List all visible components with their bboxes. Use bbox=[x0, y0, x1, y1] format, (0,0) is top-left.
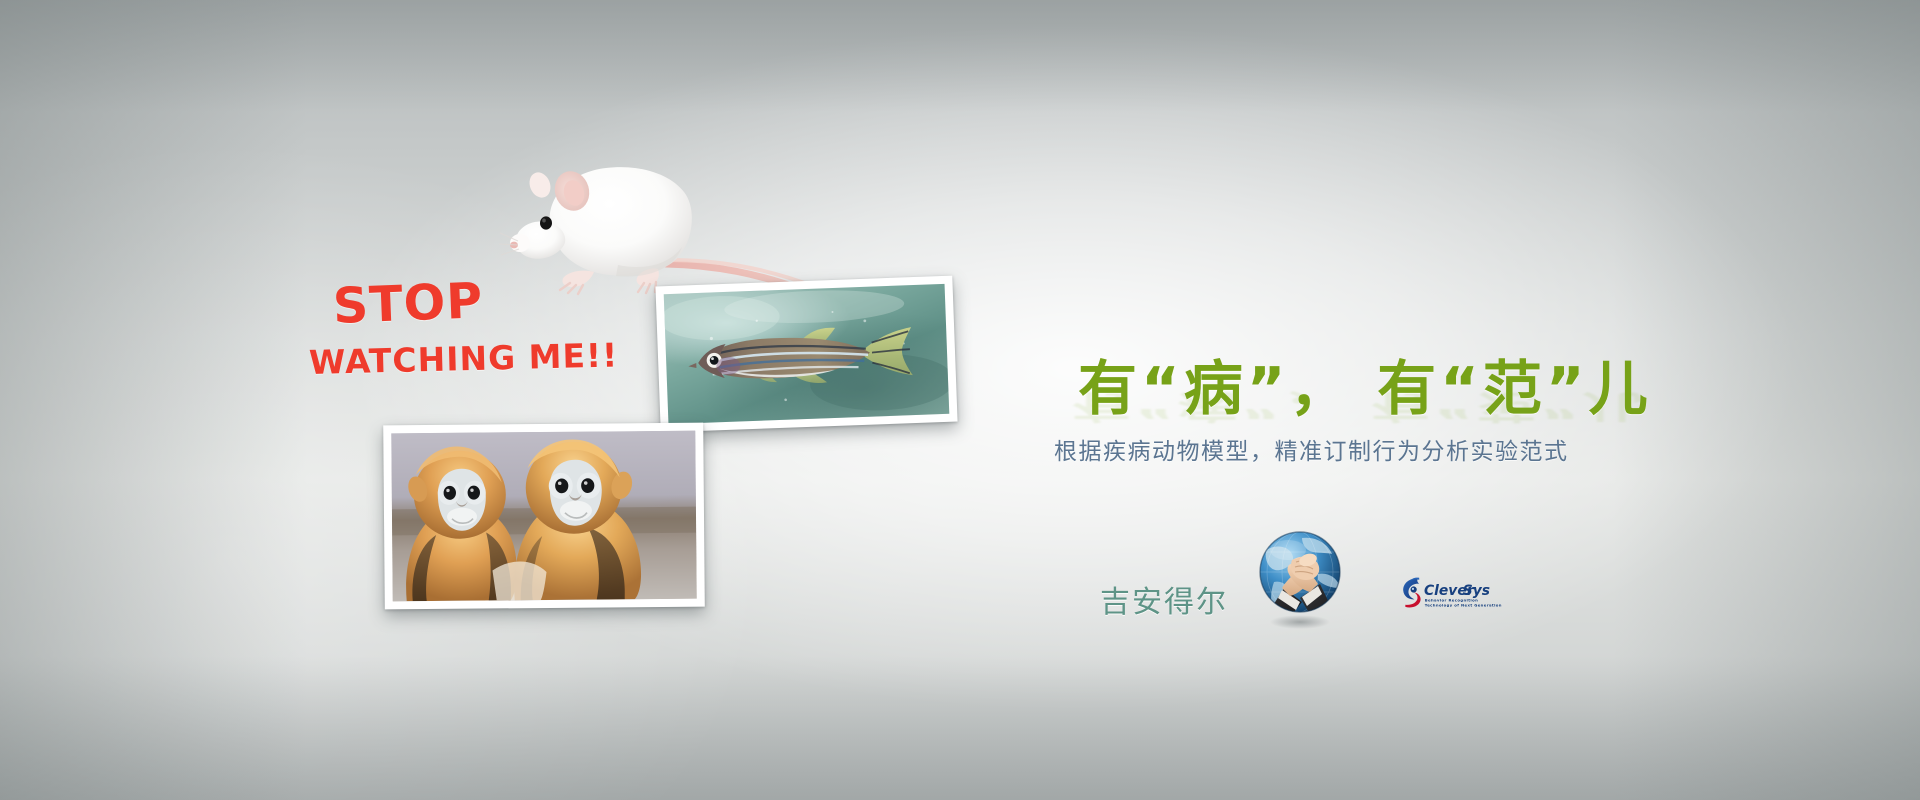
cleversys-logo[interactable]: Clever Sys Behavior Recognition Technolo… bbox=[1372, 549, 1510, 611]
mouse-photo bbox=[498, 145, 838, 300]
cleversys-wordmark-sys: Sys bbox=[1463, 583, 1490, 599]
globe-handshake-logo[interactable] bbox=[1258, 530, 1342, 630]
watching-me-text: WATCHING ME!! bbox=[309, 335, 619, 382]
monkeys-photo bbox=[391, 431, 696, 602]
headline: 有“病”， 有“范”儿 bbox=[1078, 341, 1652, 426]
subheadline: 根据疾病动物模型，精准订制行为分析实验范式 bbox=[1054, 432, 1569, 466]
hero-banner: STOP WATCHING ME!! 有“病”， 有“范”儿 有“病”， 有“范… bbox=[0, 0, 1920, 800]
zebrafish-photo bbox=[664, 284, 950, 424]
brand-name-cn: 吉安得尔 bbox=[1100, 539, 1228, 621]
brand-row: 吉安得尔 bbox=[1100, 530, 1510, 630]
zebrafish-photo-frame bbox=[655, 276, 957, 433]
stop-text: STOP bbox=[332, 272, 484, 335]
cleversys-tagline-line2: Technology of Next Generation bbox=[1425, 603, 1502, 608]
cleversys-tagline-line1: Behavior Recognition bbox=[1425, 597, 1478, 602]
monkeys-photo-frame bbox=[383, 423, 705, 610]
